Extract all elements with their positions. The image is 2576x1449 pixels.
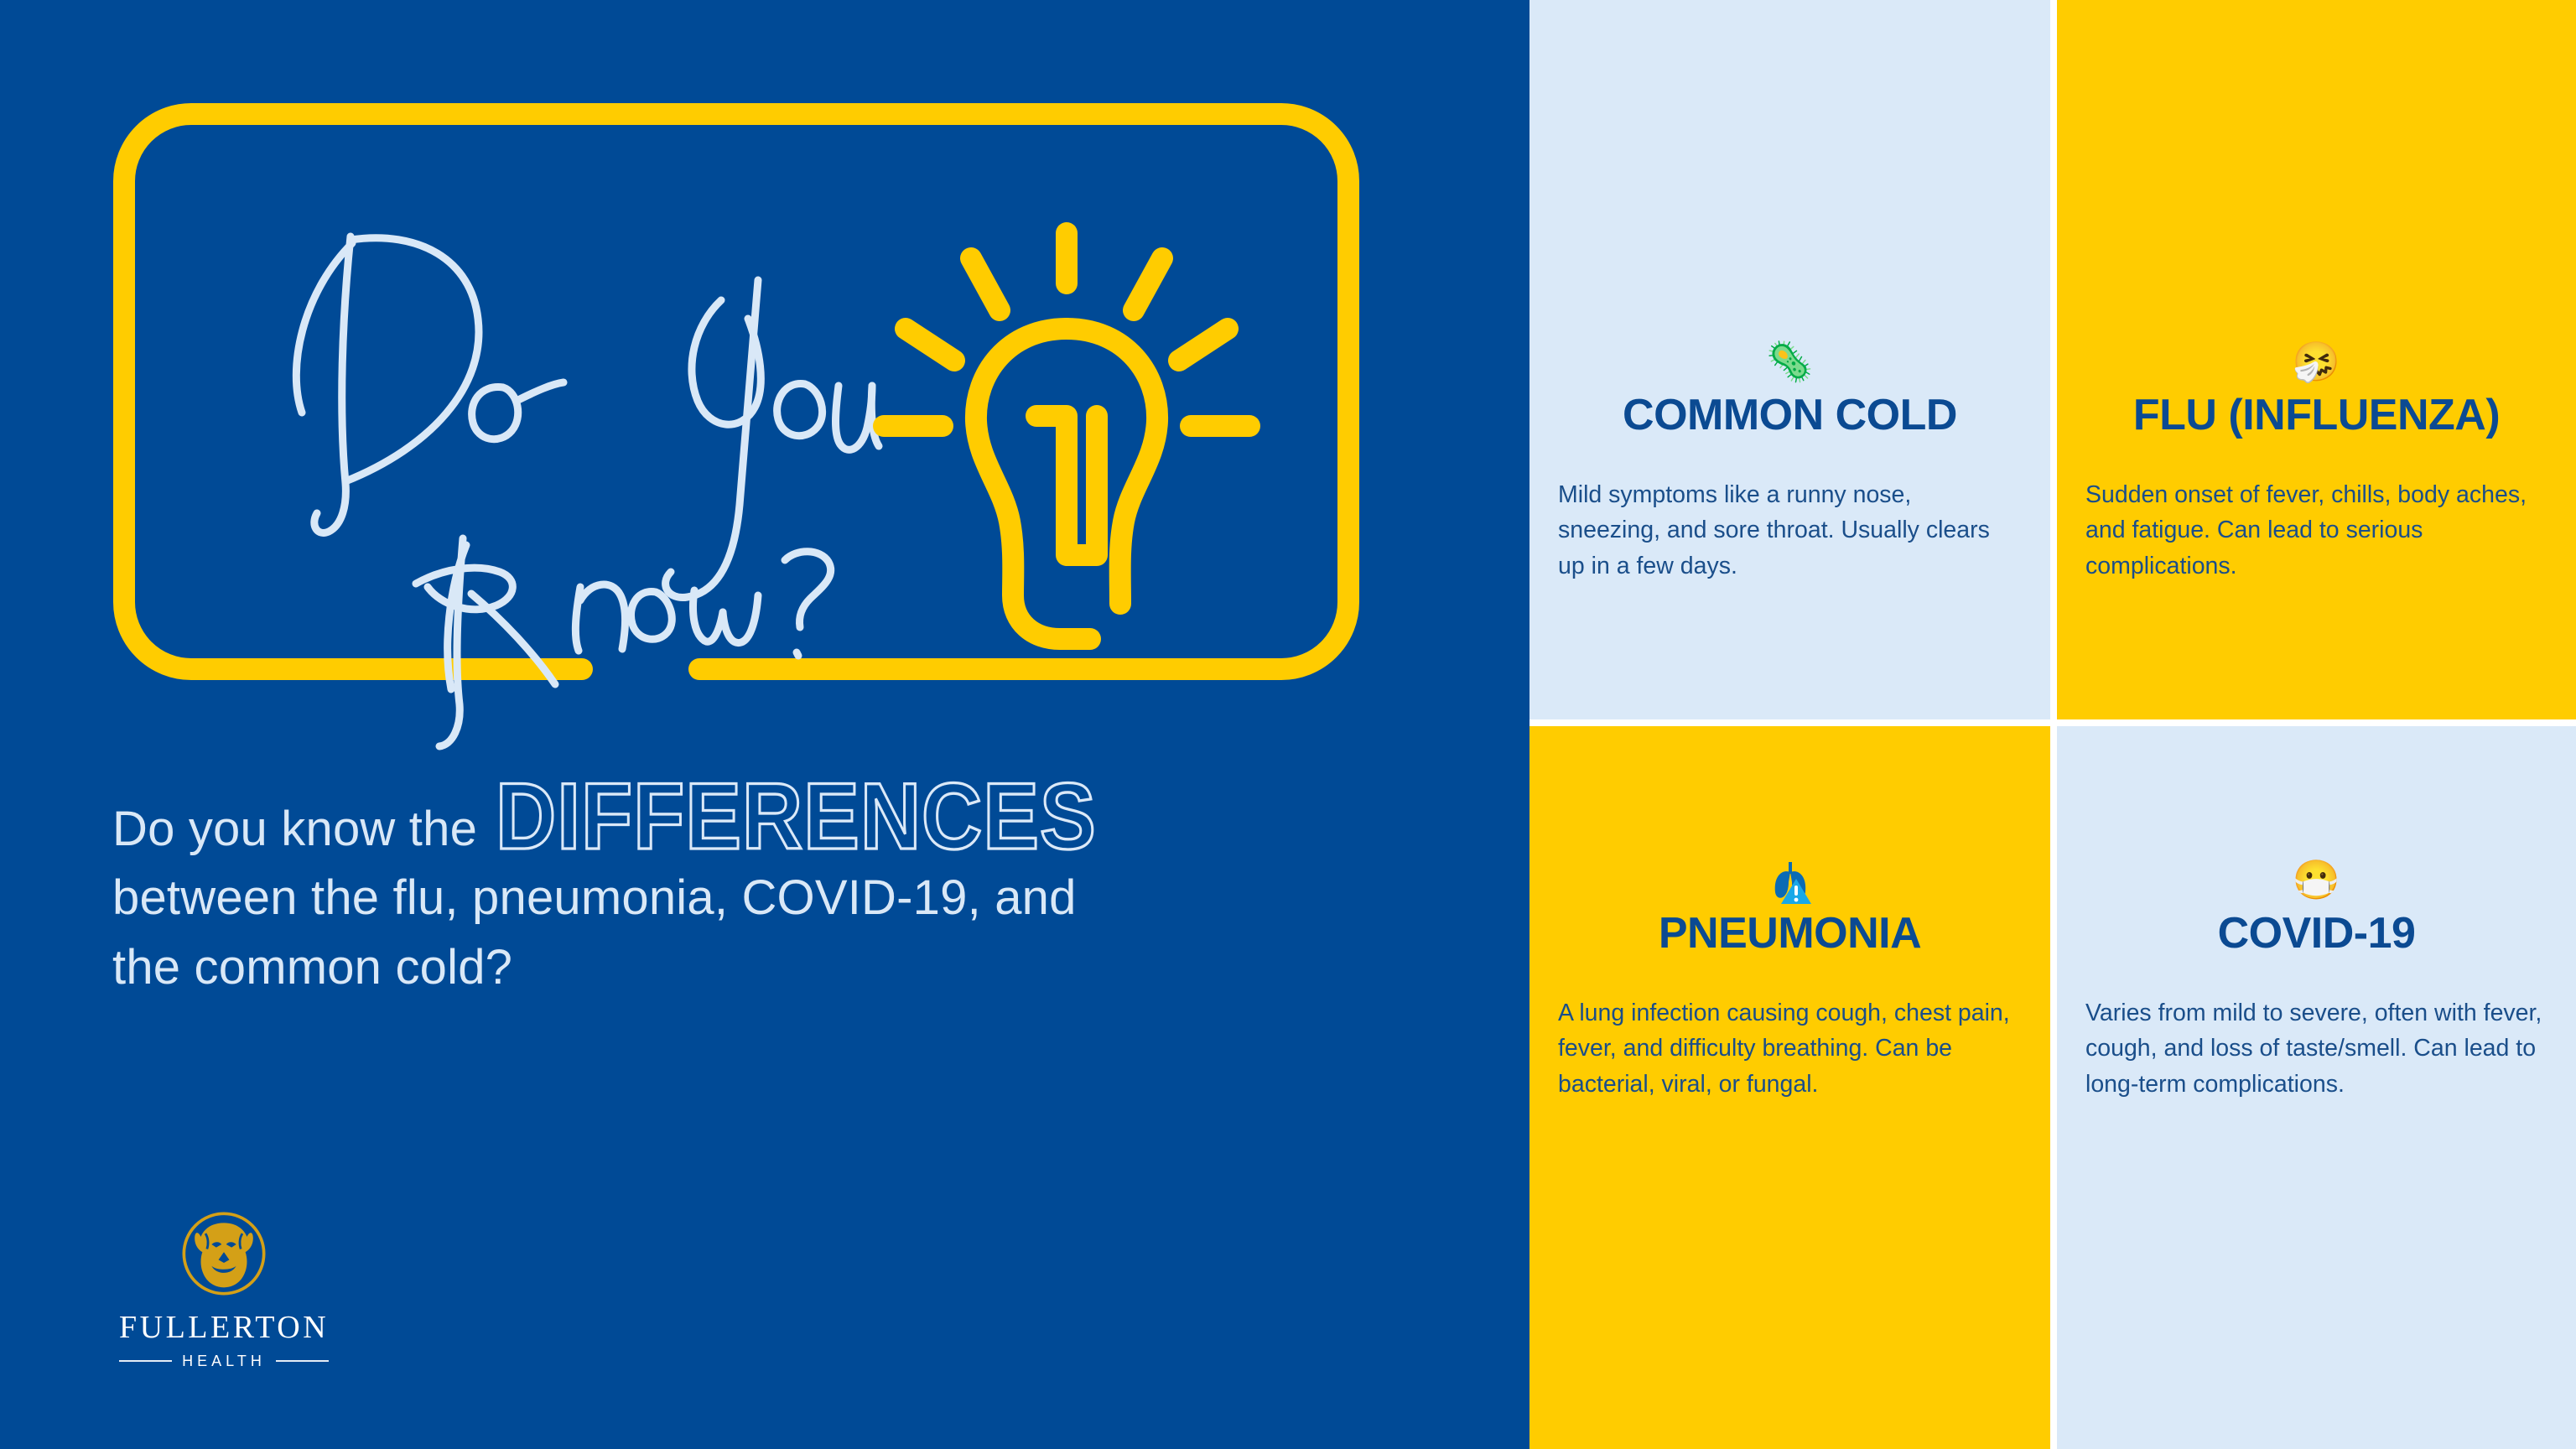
conditions-grid: 🦠 COMMON COLD Mild symptoms like a runny… — [1529, 0, 2576, 1449]
tiger-head-icon — [178, 1207, 270, 1300]
face-with-medical-mask-icon: 😷 — [2085, 860, 2547, 904]
panel-common-cold: 🦠 COMMON COLD Mild symptoms like a runny… — [1529, 0, 2050, 719]
panel-title-pneumonia: PNEUMONIA — [1558, 911, 2022, 957]
subheadline-line-3: the common cold? — [112, 933, 1420, 1002]
logo-rule-left — [119, 1360, 172, 1362]
logo-subword-row: HEALTH — [119, 1353, 329, 1368]
sneezing-face-icon: 🤧 — [2085, 342, 2547, 386]
logo-rule-right — [276, 1360, 329, 1362]
panel-body-pneumonia: A lung infection causing cough, chest pa… — [1558, 995, 2022, 1103]
lungs-warning-icon — [1558, 860, 2022, 904]
hero-panel: Do you know theDIFFERENCES between the f… — [0, 0, 1529, 1449]
infographic-poster: Do you know theDIFFERENCES between the f… — [0, 0, 2576, 1449]
panel-body-common-cold: Mild symptoms like a runny nose, sneezin… — [1558, 477, 2022, 584]
microbe-icon: 🦠 — [1558, 342, 2022, 386]
logo-wordmark: FULLERTON — [119, 1311, 329, 1343]
differences-outline-text: DIFFERENCES — [496, 770, 1097, 864]
subheadline-line-2: between the flu, pneumonia, COVID-19, an… — [112, 864, 1420, 932]
fullerton-health-logo: FULLERTON HEALTH — [119, 1207, 329, 1368]
panel-body-covid-19: Varies from mild to severe, often with f… — [2085, 995, 2547, 1103]
panel-covid-19: 😷 COVID-19 Varies from mild to severe, o… — [2057, 726, 2576, 1449]
lungs-warning-icon-svg — [1764, 860, 1816, 907]
panel-title-covid-19: COVID-19 — [2085, 911, 2547, 957]
subheadline: Do you know theDIFFERENCES between the f… — [112, 780, 1420, 1002]
panel-pneumonia: PNEUMONIA A lung infection causing cough… — [1529, 726, 2050, 1449]
lightbulb-idea-icon — [872, 210, 1392, 713]
panel-title-common-cold: COMMON COLD — [1558, 392, 2022, 439]
panel-title-flu: FLU (INFLUENZA) — [2085, 392, 2547, 439]
panel-body-flu: Sudden onset of fever, chills, body ache… — [2085, 477, 2547, 584]
lightbulb-icon-svg — [872, 210, 1392, 713]
subheadline-prefix: Do you know the — [112, 802, 477, 856]
logo-subword: HEALTH — [182, 1353, 266, 1368]
panel-flu-influenza: 🤧 FLU (INFLUENZA) Sudden onset of fever,… — [2057, 0, 2576, 719]
subheadline-line-1: Do you know theDIFFERENCES — [112, 780, 1420, 864]
